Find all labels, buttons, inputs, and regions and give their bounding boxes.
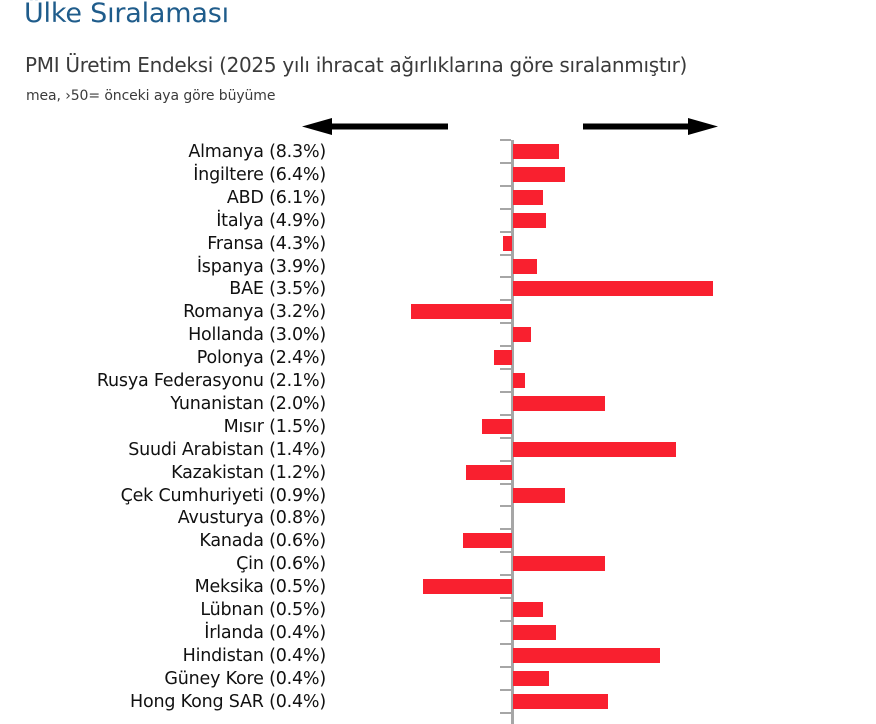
- bar-mısır: [482, 419, 513, 434]
- category-label: İtalya (4.9%): [0, 211, 334, 231]
- axis-tick: [500, 437, 511, 439]
- bar-i̇rlanda: [513, 625, 556, 640]
- axis-tick: [500, 505, 511, 507]
- bar-i̇spanya: [513, 259, 538, 274]
- category-label: İngiltere (6.4%): [0, 165, 334, 185]
- category-label: Kazakistan (1.2%): [0, 463, 334, 483]
- axis-tick: [500, 643, 511, 645]
- bar-fransa: [503, 236, 512, 251]
- category-label: Lübnan (0.5%): [0, 600, 334, 620]
- axis-tick: [500, 551, 511, 553]
- category-label: Hong Kong SAR (0.4%): [0, 692, 334, 712]
- category-label: BAE (3.5%): [0, 279, 334, 299]
- chart-subtitle: PMI Üretim Endeksi (2025 yılı ihracat ağ…: [25, 53, 687, 77]
- axis-tick: [500, 276, 511, 278]
- category-label: Romanya (3.2%): [0, 302, 334, 322]
- axis-tick: [500, 620, 511, 622]
- decline-arrow-left-icon: [302, 118, 448, 135]
- category-label: Rusya Federasyonu (2.1%): [0, 371, 334, 391]
- chart-note: mea, ›50= önceki aya göre büyüme: [26, 88, 275, 104]
- category-label: Kanada (0.6%): [0, 531, 334, 551]
- category-label: Hindistan (0.4%): [0, 646, 334, 666]
- bar-rusya-federasyonu: [513, 373, 525, 388]
- category-label: İspanya (3.9%): [0, 257, 334, 277]
- bar-güney-kore: [513, 671, 550, 686]
- bar-bae: [513, 281, 713, 296]
- category-label: Meksika (0.5%): [0, 577, 334, 597]
- category-label: Fransa (4.3%): [0, 234, 334, 254]
- axis-tick: [500, 345, 511, 347]
- axis-tick: [500, 528, 511, 530]
- bar-lübnan: [513, 602, 544, 617]
- category-label: Çin (0.6%): [0, 554, 334, 574]
- category-label: Suudi Arabistan (1.4%): [0, 440, 334, 460]
- axis-tick: [500, 712, 511, 714]
- axis-tick: [500, 689, 511, 691]
- category-label: Mısır (1.5%): [0, 417, 334, 437]
- category-label: Almanya (8.3%): [0, 142, 334, 162]
- bar-abd: [513, 190, 544, 205]
- bar-hollanda: [513, 327, 531, 342]
- bar-i̇talya: [513, 213, 547, 228]
- category-label: Hollanda (3.0%): [0, 325, 334, 345]
- axis-tick: [500, 460, 511, 462]
- axis-tick: [500, 185, 511, 187]
- bar-çin: [513, 556, 605, 571]
- growth-arrow-right-icon: [583, 118, 718, 135]
- category-label: Çek Cumhuriyeti (0.9%): [0, 486, 334, 506]
- axis-tick: [500, 254, 511, 256]
- axis-tick: [500, 208, 511, 210]
- bar-çek-cumhuriyeti: [513, 488, 565, 503]
- category-label: ABD (6.1%): [0, 188, 334, 208]
- axis-tick: [500, 574, 511, 576]
- axis-tick: [500, 483, 511, 485]
- axis-tick: [500, 414, 511, 416]
- bar-kanada: [463, 533, 512, 548]
- axis-tick: [500, 666, 511, 668]
- bar-hindistan: [513, 648, 661, 663]
- bar-i̇ngiltere: [513, 167, 565, 182]
- axis-tick: [500, 299, 511, 301]
- bar-polonya: [494, 350, 512, 365]
- bar-meksika: [423, 579, 512, 594]
- page-title: Ülke Sıralaması: [24, 0, 229, 29]
- category-label: Polonya (2.4%): [0, 348, 334, 368]
- axis-tick: [500, 391, 511, 393]
- category-label: Avusturya (0.8%): [0, 508, 334, 528]
- axis-tick: [500, 231, 511, 233]
- bar-yunanistan: [513, 396, 605, 411]
- axis-tick: [500, 368, 511, 370]
- category-label: İrlanda (0.4%): [0, 623, 334, 643]
- bar-kazakistan: [466, 465, 512, 480]
- category-label: Yunanistan (2.0%): [0, 394, 334, 414]
- axis-tick: [500, 597, 511, 599]
- category-label: Güney Kore (0.4%): [0, 669, 334, 689]
- bar-suudi-arabistan: [513, 442, 676, 457]
- bar-hong-kong-sar: [513, 694, 608, 709]
- axis-tick: [500, 162, 511, 164]
- bar-romanya: [411, 304, 513, 319]
- bar-chart-plot: Almanya (8.3%)İngiltere (6.4%)ABD (6.1%)…: [0, 140, 876, 724]
- axis-tick: [500, 322, 511, 324]
- bar-almanya: [513, 144, 559, 159]
- axis-tick: [500, 139, 511, 141]
